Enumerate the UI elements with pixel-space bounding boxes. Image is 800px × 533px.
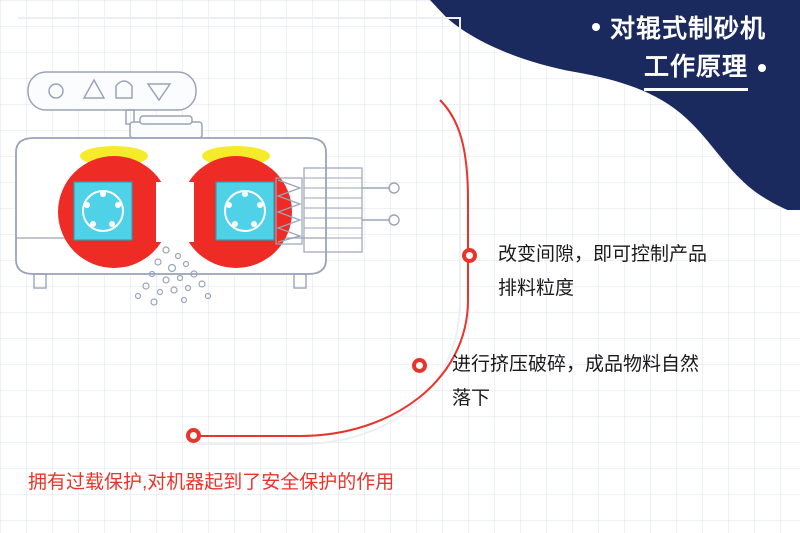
callout-1: 改变间隙，即可控制产品 排料粒度 (498, 238, 788, 306)
callout-1-line-1: 改变间隙，即可控制产品 (498, 238, 788, 272)
callout-3: 拥有过载保护,对机器起到了安全保护的作用 (28, 466, 548, 500)
callout-1-line-2: 排料粒度 (498, 272, 788, 306)
left-bearing (74, 182, 132, 240)
dot-icon (758, 64, 766, 72)
dot-icon (592, 23, 600, 31)
machine-illustration (8, 60, 408, 320)
node-icon (412, 358, 427, 373)
title-line-2-text: 工作原理 (644, 48, 748, 91)
roller-gap (156, 182, 194, 242)
title-line-1-text: 对辊式制砂机 (610, 15, 766, 43)
top-cover (126, 110, 202, 138)
title-line-2-row: 工作原理 (406, 48, 766, 91)
node-icon (462, 248, 477, 263)
callout-2: 进行挤压破碎，成品物料自然 落下 (452, 348, 782, 416)
header-title: 对辊式制砂机 工作原理 (406, 10, 766, 91)
feed-hopper (28, 72, 196, 110)
title-line-1: 对辊式制砂机 (406, 10, 766, 48)
node-icon (186, 428, 201, 443)
poster-root: 对辊式制砂机 工作原理 (0, 0, 800, 533)
machine-svg (8, 60, 408, 330)
callout-2-line-1: 进行挤压破碎，成品物料自然 (452, 348, 782, 382)
right-bearing (216, 182, 274, 240)
callout-2-line-2: 落下 (452, 382, 782, 416)
